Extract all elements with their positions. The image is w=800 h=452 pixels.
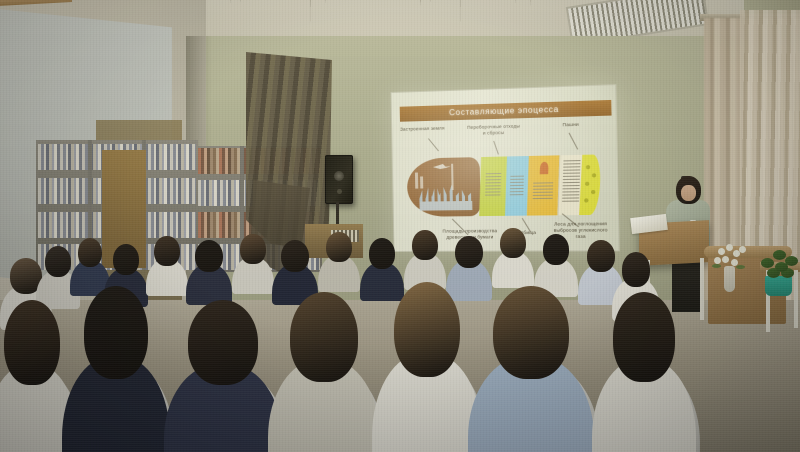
tower-icon <box>451 164 454 190</box>
segment-text <box>562 160 580 202</box>
tree-icon <box>540 162 549 175</box>
audience-person-head <box>195 240 223 272</box>
leaf-icon <box>712 264 721 268</box>
segment-grazing <box>527 155 561 215</box>
flower-icon <box>726 244 733 251</box>
audience-person-head <box>290 292 357 382</box>
ecological-footprint-diagram <box>407 154 601 216</box>
audience-person-head <box>455 236 483 268</box>
audience-person-head <box>493 286 569 379</box>
smokestack-icon <box>415 173 418 189</box>
airplane-icon <box>433 164 451 169</box>
audience-person-head <box>281 240 309 272</box>
dot-icon <box>586 165 591 169</box>
leaf-icon <box>761 258 774 268</box>
audience-person-head <box>188 300 259 385</box>
segment-carbon <box>579 154 601 215</box>
flower-icon <box>739 246 746 253</box>
speaker-cone <box>334 171 344 181</box>
dot-icon <box>585 182 589 186</box>
leader-line <box>428 138 439 151</box>
leaf-icon <box>773 250 786 260</box>
leader-line <box>569 133 579 150</box>
audience-person-head <box>500 228 525 258</box>
presenter-face <box>681 185 696 201</box>
cityscape-illustration <box>419 180 472 211</box>
flower-icon <box>718 248 725 255</box>
dot-icon <box>591 190 596 194</box>
smokestack-icon <box>420 176 423 188</box>
segment-text <box>485 173 501 196</box>
segment-text <box>510 175 524 196</box>
podium-leg <box>700 258 704 320</box>
audience-person-head <box>622 252 651 287</box>
audience-person-head <box>613 292 675 382</box>
potted-plant <box>757 240 800 280</box>
audience-person-head <box>84 286 149 379</box>
slide-label-top-1: Переборочные отходы и сбросы <box>467 123 521 137</box>
slide-title: Составляющие эпоцесса <box>449 105 559 118</box>
flower-icon <box>714 257 721 264</box>
white-flowers <box>706 240 754 274</box>
dot-icon <box>584 198 588 202</box>
segment-text <box>533 180 554 199</box>
dot-icon <box>592 173 597 177</box>
speaker-tweeter <box>337 189 342 194</box>
audience-person-head <box>412 230 437 260</box>
audience-person-head <box>394 282 460 377</box>
slide-label-top-2: Пашни <box>562 122 579 129</box>
audience-person-head <box>154 236 179 266</box>
audience-person-head <box>113 244 139 275</box>
audience-person-head <box>45 246 71 277</box>
audience-person-head <box>240 234 265 264</box>
slide-surface: Составляющие эпоцесса Застроенная земля … <box>390 84 619 252</box>
segment-cropland <box>479 156 508 216</box>
flower-icon <box>722 256 729 263</box>
wall-speaker-icon <box>325 155 353 204</box>
audience-person-head <box>78 238 102 267</box>
photograph: Составляющие эпоцесса Застроенная земля … <box>0 0 800 452</box>
leader-line <box>493 141 499 155</box>
leaf-icon <box>736 265 745 269</box>
audience-person-head <box>543 234 569 265</box>
audience-person-head <box>4 300 59 385</box>
audience-person-head <box>369 238 395 269</box>
segment-built-land <box>407 157 481 217</box>
audience-person-head <box>587 240 615 272</box>
slide-label-top-0: Застроенная земля <box>400 126 445 133</box>
audience-person-head <box>326 232 351 262</box>
projection-screen: Составляющие эпоцесса Застроенная земля … <box>390 84 619 252</box>
leaf-icon <box>775 262 788 272</box>
